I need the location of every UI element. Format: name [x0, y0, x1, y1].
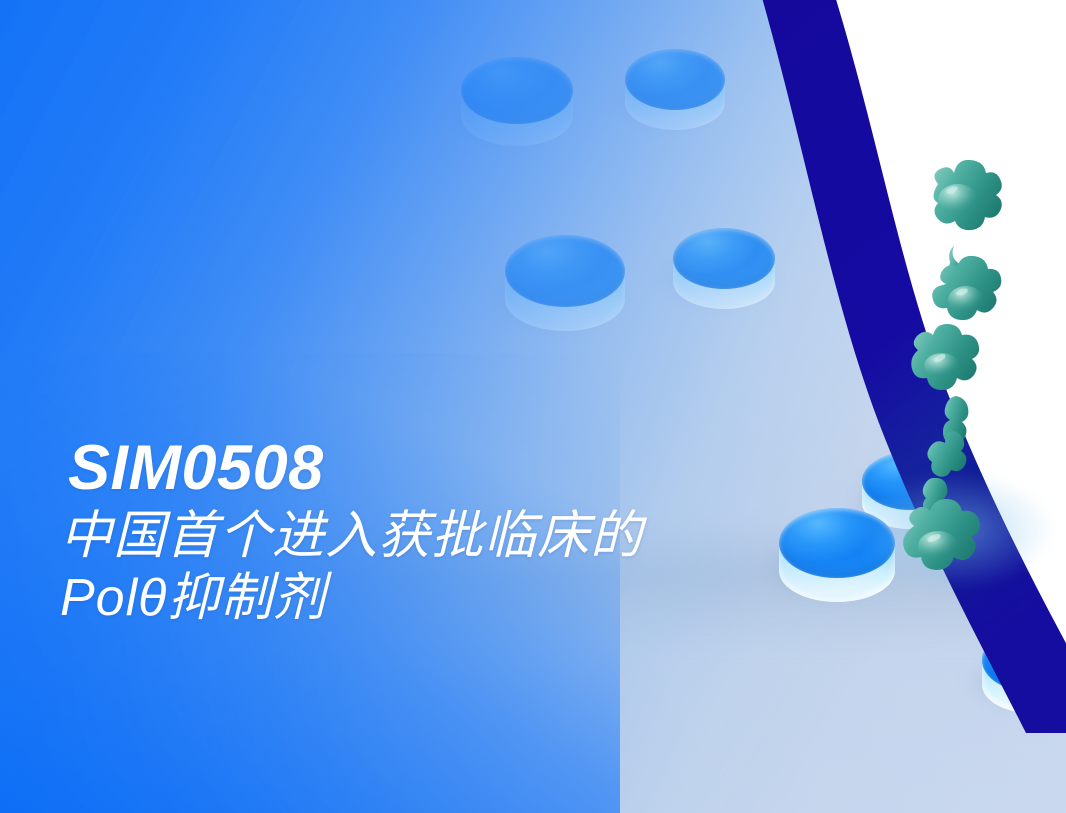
poster-canvas: SIM0508 中国首个进入获批临床的 Polθ抑制剂: [0, 0, 1066, 813]
headline-block: SIM0508 中国首个进入获批临床的 Polθ抑制剂: [60, 436, 880, 629]
protein-structure-illustration: [890, 160, 1040, 580]
protein-molecule-icon: [890, 160, 1040, 580]
subtitle-line-2: Polθ抑制剂: [60, 568, 880, 629]
product-name: SIM0508: [68, 436, 880, 500]
subtitle-line-1: 中国首个进入获批临床的: [60, 506, 880, 567]
